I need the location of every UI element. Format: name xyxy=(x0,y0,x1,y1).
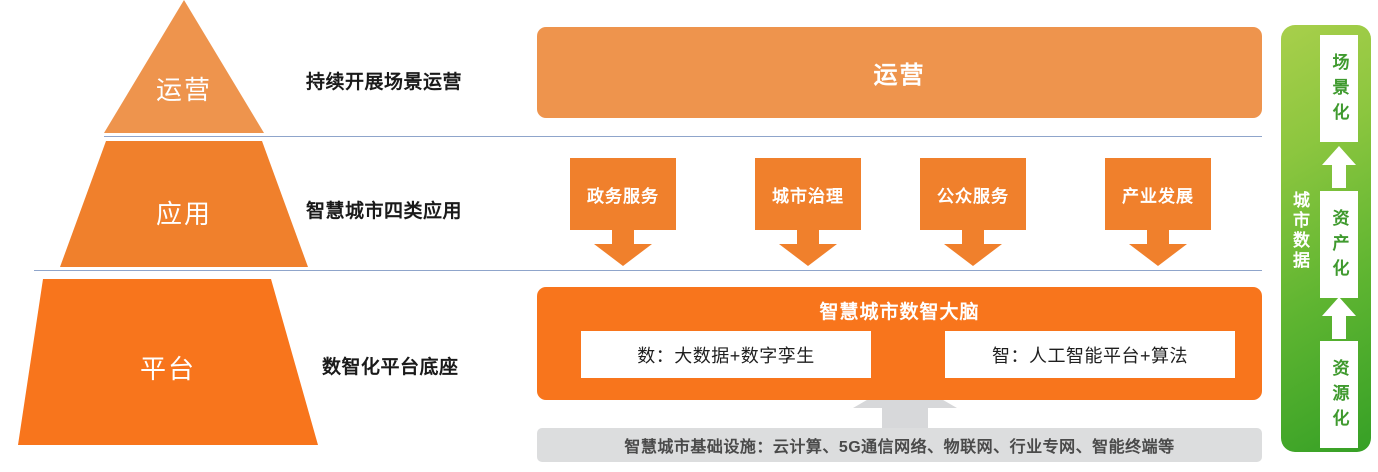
operation-bar-label: 运营 xyxy=(874,55,926,90)
app-box-government-service[interactable]: 政务服务 xyxy=(570,158,676,230)
app-box-industry-development[interactable]: 产业发展 xyxy=(1105,158,1211,230)
divider-operation-application xyxy=(104,136,1262,137)
caption-platform: 数智化平台底座 xyxy=(322,352,459,379)
infrastructure-label: 智慧城市基础设施：云计算、5G通信网络、物联网、行业专网、智能终端等 xyxy=(624,433,1174,457)
caption-application: 智慧城市四类应用 xyxy=(306,196,462,223)
app-box-label: 政务服务 xyxy=(587,182,659,207)
app-box-label: 产业发展 xyxy=(1122,182,1194,207)
stage-card-scenarioization[interactable]: 场景化 xyxy=(1320,35,1358,142)
app-box-label: 城市治理 xyxy=(772,182,844,207)
brain-card-label: 数：大数据+数字孪生 xyxy=(637,342,815,368)
app-box-city-governance[interactable]: 城市治理 xyxy=(755,158,861,230)
arrow-up-icon xyxy=(1322,146,1356,188)
city-data-panel[interactable]: 城市数据 场景化 资产化 资源化 xyxy=(1281,25,1371,452)
stage-card-resourceization[interactable]: 资源化 xyxy=(1320,341,1358,448)
arrow-down-icon xyxy=(1129,230,1187,266)
brain-card-label: 智：人工智能平台+算法 xyxy=(992,342,1188,368)
operation-bar[interactable]: 运营 xyxy=(537,27,1262,118)
brain-card-intelligence[interactable]: 智：人工智能平台+算法 xyxy=(945,331,1235,378)
pyramid-layer-operation[interactable]: 运营 xyxy=(104,0,264,133)
diagram-canvas: 运营 应用 平台 持续开展场景运营 智慧城市四类应用 数智化平台底座 运营 政务… xyxy=(0,0,1378,472)
pyramid-layer-application[interactable]: 应用 xyxy=(60,141,308,267)
app-box-public-service[interactable]: 公众服务 xyxy=(920,158,1026,230)
arrow-down-icon xyxy=(944,230,1002,266)
arrow-up-icon xyxy=(1322,297,1356,339)
brain-card-data[interactable]: 数：大数据+数字孪生 xyxy=(581,331,871,378)
brain-box-title: 智慧城市数智大脑 xyxy=(537,297,1262,324)
pyramid-top-shape xyxy=(104,0,264,133)
stage-card-assetization[interactable]: 资产化 xyxy=(1320,191,1358,298)
app-box-label: 公众服务 xyxy=(937,182,1009,207)
brain-box[interactable]: 智慧城市数智大脑 数：大数据+数字孪生 智：人工智能平台+算法 xyxy=(537,287,1262,400)
arrow-down-icon xyxy=(779,230,837,266)
divider-application-platform xyxy=(34,270,1262,271)
infrastructure-bar[interactable]: 智慧城市基础设施：云计算、5G通信网络、物联网、行业专网、智能终端等 xyxy=(537,428,1262,462)
pyramid-mid-shape xyxy=(60,141,308,267)
caption-operation: 持续开展场景运营 xyxy=(306,67,462,94)
city-data-label: 城市数据 xyxy=(1288,191,1312,271)
arrow-down-icon xyxy=(594,230,652,266)
pyramid-layer-platform[interactable]: 平台 xyxy=(18,279,318,445)
pyramid-bottom-shape xyxy=(18,279,318,445)
